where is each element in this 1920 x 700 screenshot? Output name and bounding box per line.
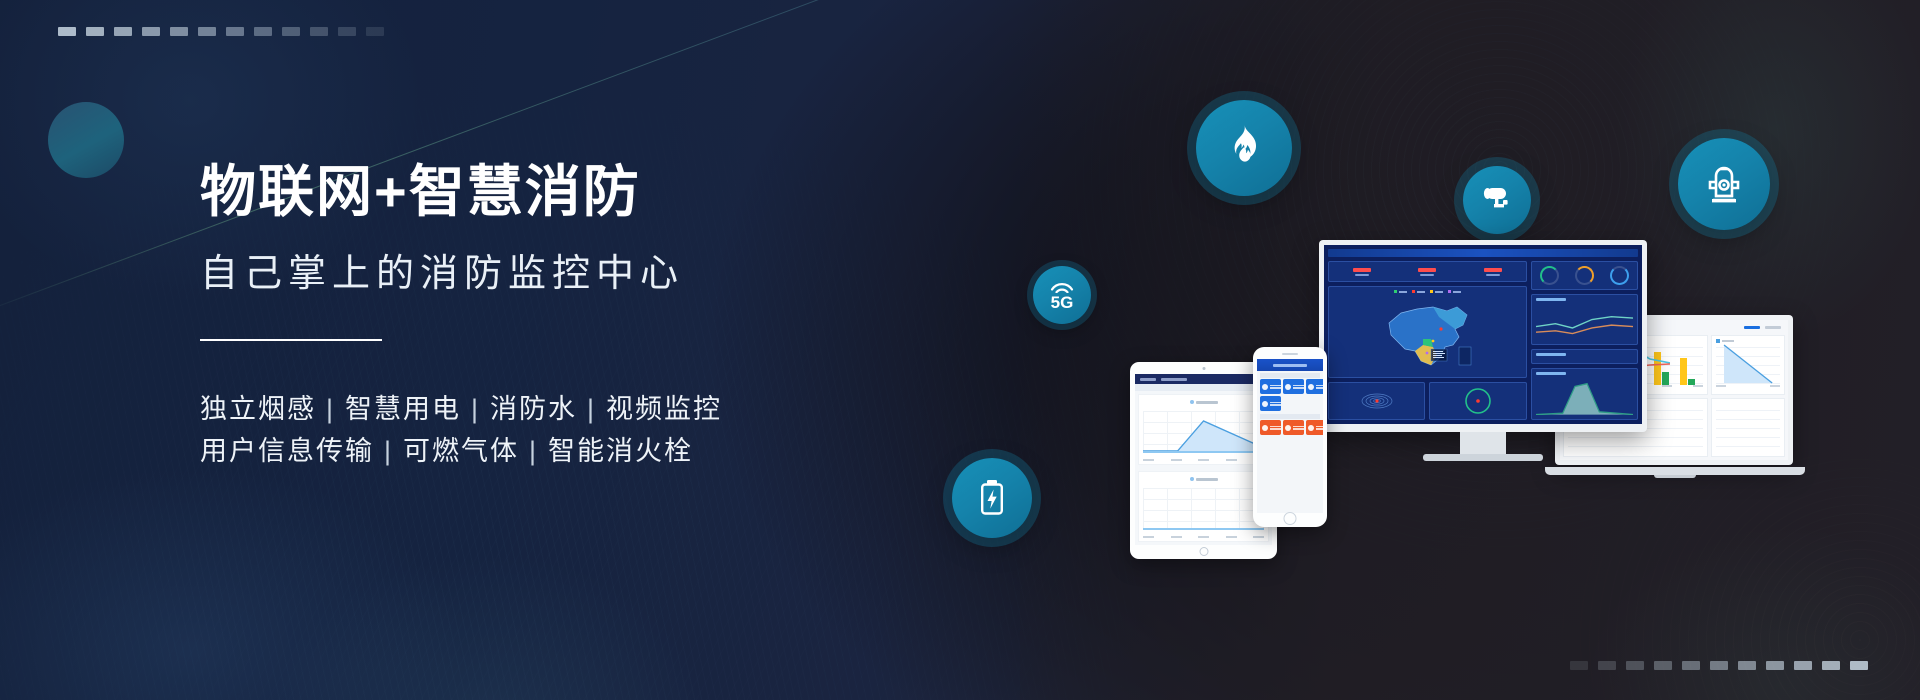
decor-dash	[1654, 661, 1672, 670]
phone-tile[interactable]	[1283, 379, 1304, 394]
banner-copy: 物联网+智慧消防 自己掌上的消防监控中心 独立烟感|智慧用电|消防水|视频监控用…	[200, 160, 960, 473]
decor-dash	[114, 27, 132, 36]
camera-icon[interactable]	[1463, 166, 1531, 234]
decor-dash	[198, 27, 216, 36]
phone-tile-label	[1316, 385, 1323, 389]
phone-app-header	[1257, 359, 1323, 371]
phone-home-button	[1284, 512, 1297, 525]
feature-separator: |	[316, 394, 345, 424]
laptop-trackpad-notch	[1654, 475, 1696, 478]
phone-tile-icon	[1308, 425, 1314, 431]
feature-item: 消防水	[490, 394, 577, 424]
decor-dash-row-bottom-right	[1570, 661, 1868, 670]
tablet-screen	[1135, 374, 1272, 545]
phone-tile[interactable]	[1260, 420, 1281, 435]
phone-tile[interactable]	[1306, 420, 1323, 435]
feature-separator: |	[461, 394, 490, 424]
hydrant-icon[interactable]	[1678, 138, 1770, 230]
decor-dash	[366, 27, 384, 36]
phone-tile-grid-orange[interactable]	[1257, 420, 1323, 435]
decor-dash	[254, 27, 272, 36]
tablet-camera-dot	[1202, 367, 1205, 370]
feature-item: 独立烟感	[200, 394, 316, 424]
phone-tile-label	[1293, 426, 1304, 430]
5g-icon[interactable]: 5G	[1033, 266, 1091, 324]
decor-dash	[1850, 661, 1868, 670]
monitor-screen	[1324, 245, 1642, 424]
tablet-chart-card-2	[1138, 471, 1269, 542]
decor-dash	[86, 27, 104, 36]
monitor-base	[1423, 454, 1543, 461]
phone-tile-label	[1270, 385, 1281, 389]
decor-dash	[142, 27, 160, 36]
phone-tile-grid-blue[interactable]	[1257, 379, 1323, 411]
decor-dash	[1710, 661, 1728, 670]
divider-line	[200, 339, 382, 341]
tablet-topbar	[1135, 374, 1272, 384]
feature-separator: |	[577, 394, 606, 424]
phone-tile[interactable]	[1260, 379, 1281, 394]
phone-tile[interactable]	[1306, 379, 1323, 394]
laptop-mini-chart	[1711, 398, 1785, 458]
phone-tile-icon	[1285, 425, 1291, 431]
dashboard-area-chart	[1531, 368, 1638, 420]
feature-line-2: 用户信息传输|可燃气体|智能消火栓	[200, 431, 960, 473]
battery-icon[interactable]	[952, 458, 1032, 538]
decor-dash	[226, 27, 244, 36]
device-mockup-group	[1120, 285, 1800, 585]
decor-dash	[1682, 661, 1700, 670]
5g-label: 5G	[1051, 294, 1074, 311]
feature-item: 智能消火栓	[548, 436, 693, 466]
dashboard-radar-left	[1328, 382, 1425, 420]
decor-dash	[1626, 661, 1644, 670]
decor-dash	[338, 27, 356, 36]
feature-item: 视频监控	[606, 394, 722, 424]
tablet-chart-card-1	[1138, 394, 1269, 465]
banner-title: 物联网+智慧消防	[200, 160, 960, 224]
dashboard-stat-row	[1328, 261, 1527, 282]
phone-speaker	[1282, 353, 1298, 355]
monitor-stand	[1460, 432, 1506, 454]
monitor-mockup[interactable]	[1319, 240, 1647, 476]
decor-dash	[58, 27, 76, 36]
feature-separator: |	[374, 436, 403, 466]
phone-tile-label	[1270, 402, 1281, 406]
banner-subtitle: 自己掌上的消防监控中心	[200, 242, 960, 297]
phone-tile[interactable]	[1260, 396, 1281, 411]
phone-section-label-1	[1260, 373, 1320, 378]
decor-dash-row-top-left	[58, 27, 384, 36]
phone-screen	[1257, 359, 1323, 513]
phone-tile-icon	[1285, 384, 1291, 390]
monitor-bezel	[1319, 240, 1647, 432]
feature-item: 用户信息传输	[200, 436, 374, 466]
decor-dash	[170, 27, 188, 36]
feature-item: 可燃气体	[403, 436, 519, 466]
decor-dash	[1766, 661, 1784, 670]
phone-tile-icon	[1262, 425, 1268, 431]
dashboard-gauge-row	[1531, 261, 1638, 290]
phone-tile-label	[1316, 426, 1323, 430]
dashboard-header-bar	[1328, 249, 1638, 257]
phone-tile-icon	[1308, 384, 1314, 390]
dashboard-line-chart	[1531, 294, 1638, 346]
decor-dash	[1794, 661, 1812, 670]
feature-list: 独立烟感|智慧用电|消防水|视频监控用户信息传输|可燃气体|智能消火栓	[200, 389, 960, 473]
feature-item: 智慧用电	[345, 394, 461, 424]
decor-dash	[1738, 661, 1756, 670]
feature-line-1: 独立烟感|智慧用电|消防水|视频监控	[200, 389, 960, 431]
dashboard-bar-chart	[1531, 349, 1638, 364]
banner-root: 物联网+智慧消防 自己掌上的消防监控中心 独立烟感|智慧用电|消防水|视频监控用…	[0, 0, 1920, 700]
flame-icon[interactable]	[1196, 100, 1292, 196]
decor-dash	[1570, 661, 1588, 670]
phone-mockup[interactable]	[1253, 347, 1327, 527]
decor-dash	[1822, 661, 1840, 670]
decor-dash	[282, 27, 300, 36]
dashboard-radar-right	[1429, 382, 1526, 420]
tablet-home-button	[1199, 547, 1208, 556]
phone-tile-label	[1293, 385, 1304, 389]
dashboard-china-map	[1328, 286, 1527, 378]
phone-section-label-2	[1260, 414, 1320, 419]
phone-tile[interactable]	[1283, 420, 1304, 435]
phone-tile-icon	[1262, 384, 1268, 390]
decor-dash	[1598, 661, 1616, 670]
phone-tile-label	[1270, 426, 1281, 430]
decor-dash	[310, 27, 328, 36]
feature-separator: |	[519, 436, 548, 466]
phone-tile-icon	[1262, 401, 1268, 407]
decor-circle-teal	[48, 102, 124, 178]
laptop-area-chart	[1711, 335, 1785, 395]
tablet-subbar	[1135, 384, 1272, 391]
